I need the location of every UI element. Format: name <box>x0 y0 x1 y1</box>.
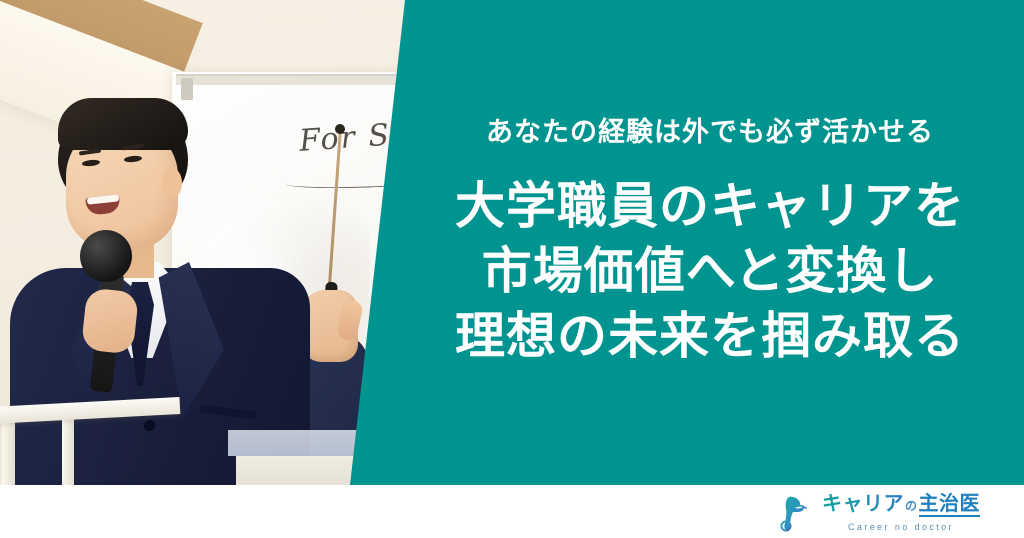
eyebrow-text: あなたの経験は外でも必ず活かせる <box>486 116 934 148</box>
logo-title: キャリア の 主治医 <box>822 494 980 517</box>
logo-title-kana: キャリア <box>822 494 904 514</box>
hair-front <box>58 98 188 150</box>
main-headline: 大学職員のキャリアを 市場価値へと変換し 理想の未来を掴み取る <box>455 174 965 369</box>
logo-title-main: 主治医 <box>919 494 981 517</box>
headline-line-2: 市場価値へと変換し <box>455 239 965 304</box>
microphone-icon <box>80 230 132 282</box>
career-doctor-figure-icon <box>773 493 813 533</box>
headline-block: あなたの経験は外でも必ず活かせる 大学職員のキャリアを 市場価値へと変換し 理想… <box>430 0 990 485</box>
logo-title-particle: の <box>905 500 918 512</box>
railing-post-right <box>62 410 74 485</box>
headline-line-1: 大学職員のキャリアを <box>455 174 965 239</box>
ear <box>162 168 182 198</box>
suit-button <box>144 420 155 431</box>
logo-text-group: キャリア の 主治医 Career no doctor <box>822 494 980 532</box>
railing-post-left <box>2 414 15 485</box>
promotional-banner: For Su あ <box>0 0 1024 538</box>
logo-tagline: Career no doctor <box>822 523 980 532</box>
headline-line-3: 理想の未来を掴み取る <box>455 304 965 369</box>
footer-bar: キャリア の 主治医 Career no doctor <box>0 485 1024 538</box>
microphone-hand <box>81 287 139 354</box>
brand-logo[interactable]: キャリア の 主治医 Career no doctor <box>773 493 980 533</box>
pointer-tip-icon <box>335 124 345 134</box>
whiteboard-clip <box>181 78 193 100</box>
